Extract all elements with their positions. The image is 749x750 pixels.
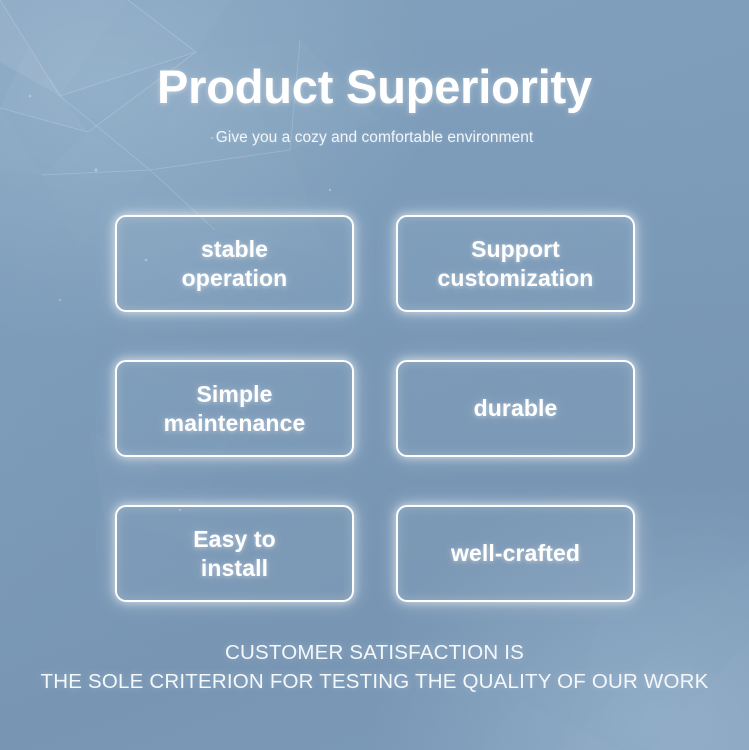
- footer-slogan-line-1: CUSTOMER SATISFACTION IS: [0, 638, 749, 667]
- feature-card-durable[interactable]: durable: [396, 360, 635, 457]
- page-subtitle: Give you a cozy and comfortable environm…: [0, 114, 749, 147]
- footer-slogan: CUSTOMER SATISFACTION IS THE SOLE CRITER…: [0, 638, 749, 696]
- feature-card-easy-to-install[interactable]: Easy to install: [115, 505, 354, 602]
- feature-card-stable-operation[interactable]: stable operation: [115, 215, 354, 312]
- feature-card-label: Easy to install: [185, 525, 284, 582]
- feature-card-label: durable: [466, 394, 566, 423]
- feature-card-well-crafted[interactable]: well-crafted: [396, 505, 635, 602]
- feature-cards-grid: stable operation Support customization S…: [115, 215, 635, 602]
- feature-card-support-customization[interactable]: Support customization: [396, 215, 635, 312]
- feature-card-label: Support customization: [430, 235, 602, 292]
- feature-card-simple-maintenance[interactable]: Simple maintenance: [115, 360, 354, 457]
- product-superiority-banner: Product Superiority Give you a cozy and …: [0, 0, 749, 750]
- footer-slogan-line-2: THE SOLE CRITERION FOR TESTING THE QUALI…: [0, 667, 749, 696]
- feature-card-label: stable operation: [174, 235, 296, 292]
- feature-card-label: well-crafted: [443, 539, 588, 568]
- banner-header: Product Superiority Give you a cozy and …: [0, 0, 749, 147]
- feature-card-label: Simple maintenance: [156, 380, 314, 437]
- page-title: Product Superiority: [0, 0, 749, 114]
